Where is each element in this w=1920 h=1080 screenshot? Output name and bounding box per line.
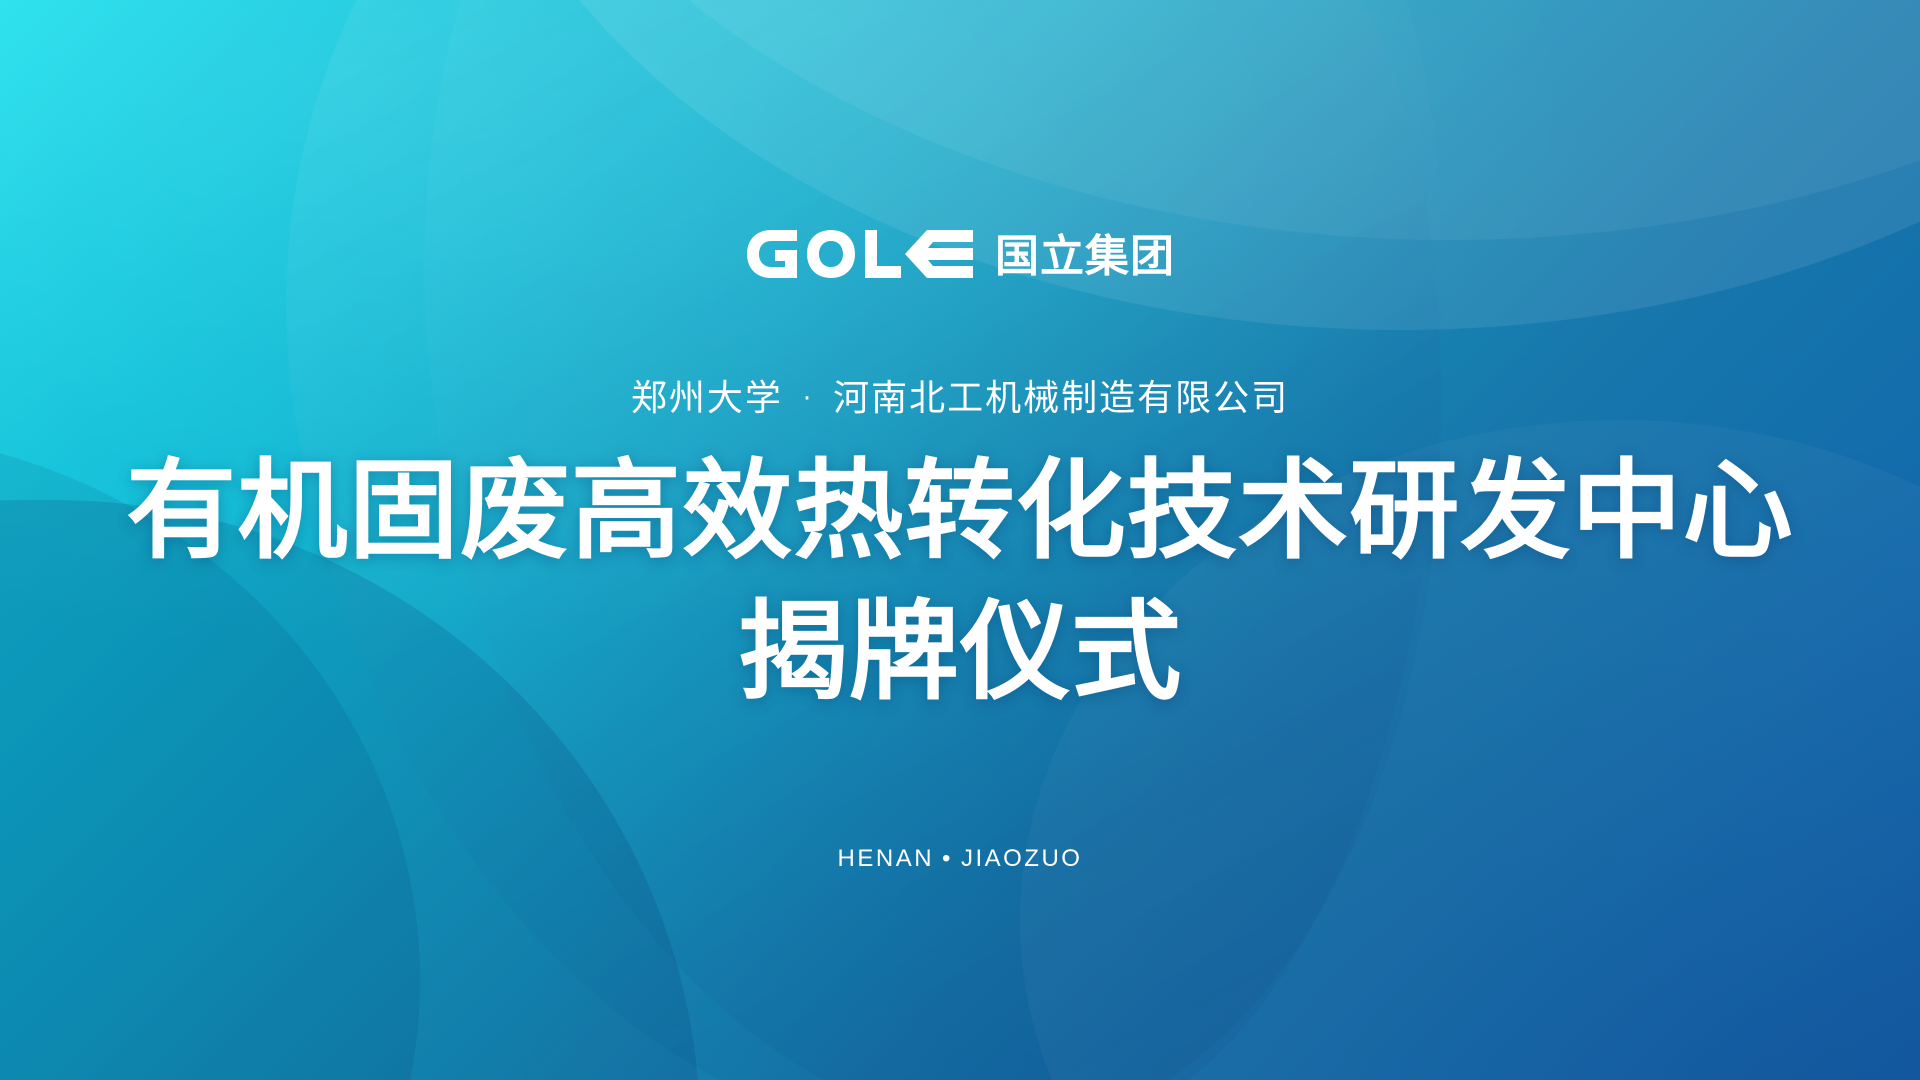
poster-slide: 国立集团 郑州大学·河南北工机械制造有限公司 有机固废高效热转化技术研发中心 揭… xyxy=(0,0,1920,1080)
poster-footer: HENAN•JIAOZUO xyxy=(0,845,1920,873)
subtitle-right: 河南北工机械制造有限公司 xyxy=(833,378,1289,419)
brand-logo: 国立集团 xyxy=(0,230,1920,283)
title-line-1: 有机固废高效热转化技术研发中心 xyxy=(0,448,1920,575)
brand-logo-chinese: 国立集团 xyxy=(995,235,1175,279)
footer-left: HENAN xyxy=(838,845,935,872)
gole-logo-icon xyxy=(745,230,975,283)
poster-title: 有机固废高效热转化技术研发中心 揭牌仪式 xyxy=(0,448,1920,717)
subtitle-left: 郑州大学 xyxy=(631,378,783,419)
footer-separator: • xyxy=(934,845,961,873)
subtitle-separator: · xyxy=(783,384,833,415)
poster-content: 国立集团 郑州大学·河南北工机械制造有限公司 有机固废高效热转化技术研发中心 揭… xyxy=(0,0,1920,1080)
title-line-2: 揭牌仪式 xyxy=(0,589,1920,716)
footer-right: JIAOZUO xyxy=(961,845,1083,872)
poster-subtitle: 郑州大学·河南北工机械制造有限公司 xyxy=(0,377,1920,420)
